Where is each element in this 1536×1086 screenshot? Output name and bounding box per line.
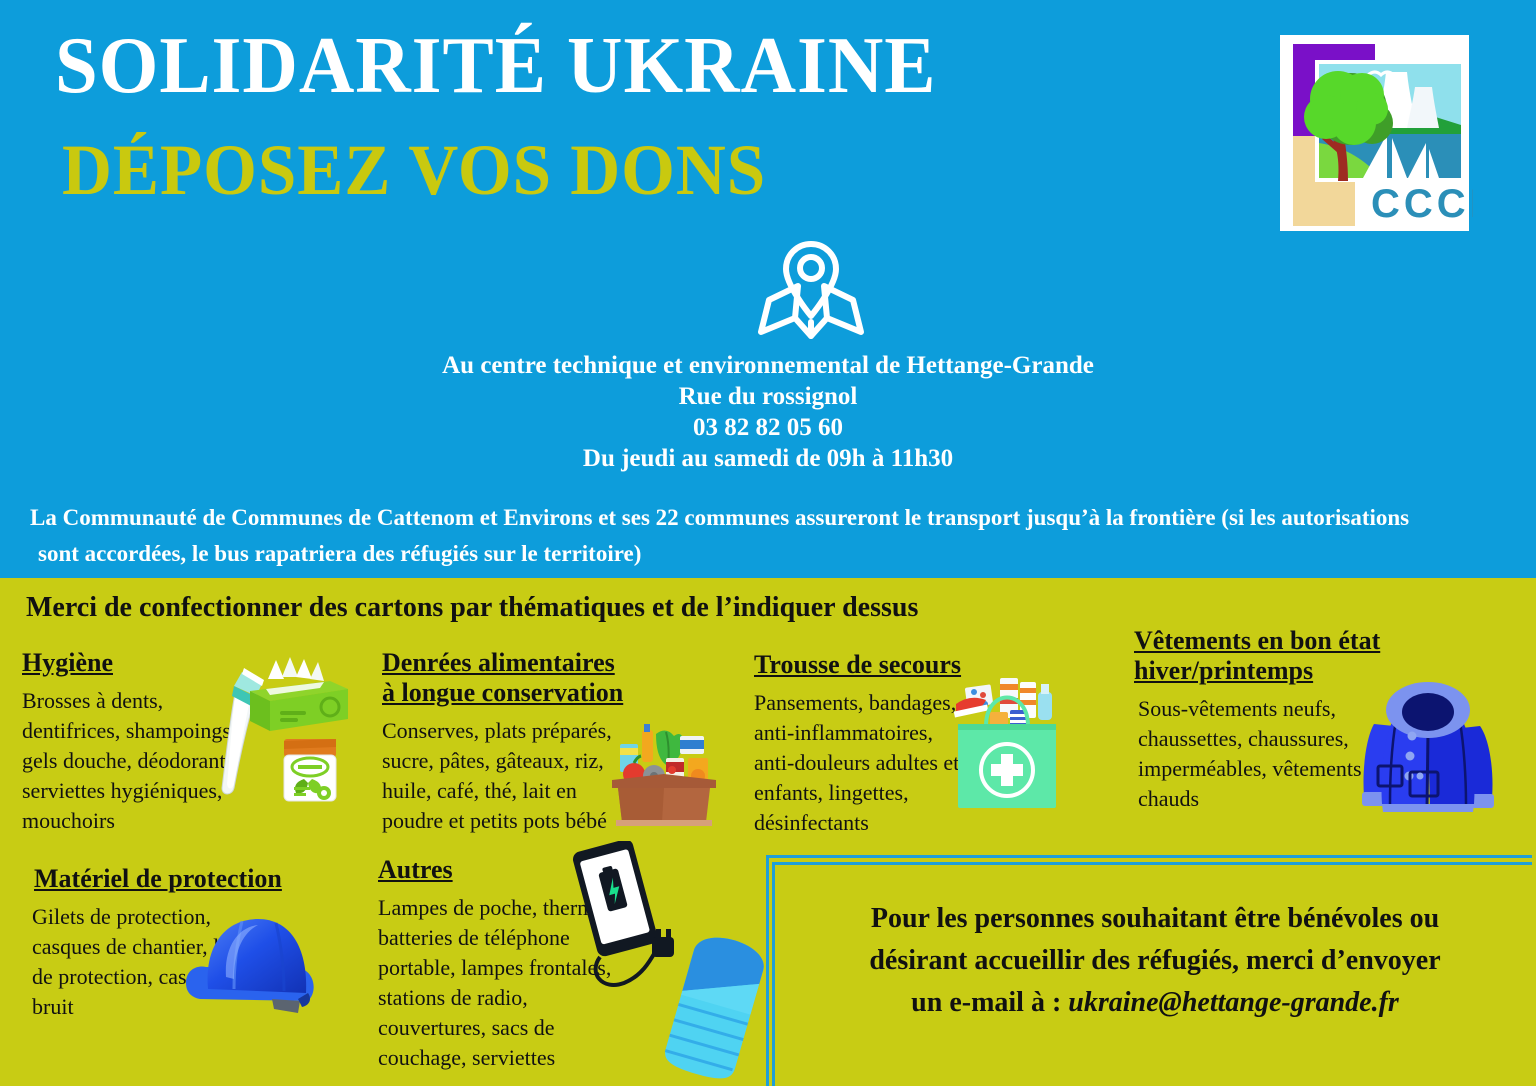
poster-root: SOLIDARITÉ UKRAINE DÉPOSEZ VOS DONS xyxy=(0,0,1536,1086)
volunteer-message-line1: Pour les personnes souhaitant être bénév… xyxy=(790,898,1520,940)
volunteer-email-prefix: un e-mail à : xyxy=(911,987,1068,1018)
category-hygiene: Hygiène Brosses à dents, dentifrices, sh… xyxy=(22,648,242,836)
category-trousse: Trousse de secours Pansements, bandages,… xyxy=(754,650,964,838)
address-line-street: Rue du rossignol xyxy=(0,381,1536,412)
winter-jacket-icon xyxy=(1356,678,1502,824)
volunteer-message: Pour les personnes souhaitant être bénév… xyxy=(790,898,1520,1024)
hard-hat-icon xyxy=(180,903,326,1029)
category-denrees-title: Denrées alimentaires à longue conservati… xyxy=(382,648,627,708)
first-aid-bag-icon xyxy=(952,668,1062,810)
category-trousse-title: Trousse de secours xyxy=(754,650,964,680)
ccce-logo: CCCE xyxy=(1276,31,1473,235)
address-line-venue: Au centre technique et environnemental d… xyxy=(0,350,1536,381)
category-vetements-title-line2: hiver/printemps xyxy=(1134,656,1313,685)
category-denrees-title-line1: Denrées alimentaires xyxy=(382,648,615,677)
food-box-icon xyxy=(604,718,724,830)
category-vetements-title: Vêtements en bon état hiver/printemps xyxy=(1134,626,1384,686)
volunteer-email[interactable]: ukraine@hettange-grande.fr xyxy=(1068,987,1399,1018)
address-line-hours: Du jeudi au samedi de 09h à 11h30 xyxy=(0,443,1536,474)
address-line-phone: 03 82 82 05 60 xyxy=(0,412,1536,443)
category-trousse-items: Pansements, bandages, anti-inflammatoire… xyxy=(754,688,964,838)
transport-note: La Communauté de Communes de Cattenom et… xyxy=(30,500,1520,572)
address-block: Au centre technique et environnemental d… xyxy=(0,350,1536,474)
category-vetements-items: Sous-vêtements neufs, chaussettes, chaus… xyxy=(1138,694,1384,814)
category-denrees-title-line2: à longue conservation xyxy=(382,678,623,707)
map-pin-icon xyxy=(753,238,869,343)
poster-title-line1: SOLIDARITÉ UKRAINE xyxy=(55,26,936,106)
poster-title-line2: DÉPOSEZ VOS DONS xyxy=(62,134,766,206)
category-vetements: Vêtements en bon état hiver/printemps So… xyxy=(1134,626,1384,814)
logo-text: CCCE xyxy=(1371,182,1473,226)
category-vetements-title-line1: Vêtements en bon état xyxy=(1134,626,1380,655)
volunteer-message-line3: un e-mail à : ukraine@hettange-grande.fr xyxy=(790,982,1520,1024)
donation-instruction: Merci de confectionner des cartons par t… xyxy=(26,592,918,624)
volunteer-message-line2: désirant accueillir des réfugiés, merci … xyxy=(790,940,1520,982)
category-hygiene-title: Hygiène xyxy=(22,648,242,678)
category-denrees: Denrées alimentaires à longue conservati… xyxy=(382,648,627,836)
category-protection-title: Matériel de protection xyxy=(34,864,282,894)
category-denrees-items: Conserves, plats préparés, sucre, pâtes,… xyxy=(382,716,627,836)
tissue-box-icon xyxy=(232,655,360,805)
category-hygiene-items: Brosses à dents, dentifrices, shampoings… xyxy=(22,686,242,836)
transport-note-line1: La Communauté de Communes de Cattenom et… xyxy=(30,505,1409,530)
transport-note-line2: sont accordées, le bus rapatriera des ré… xyxy=(30,536,1520,572)
